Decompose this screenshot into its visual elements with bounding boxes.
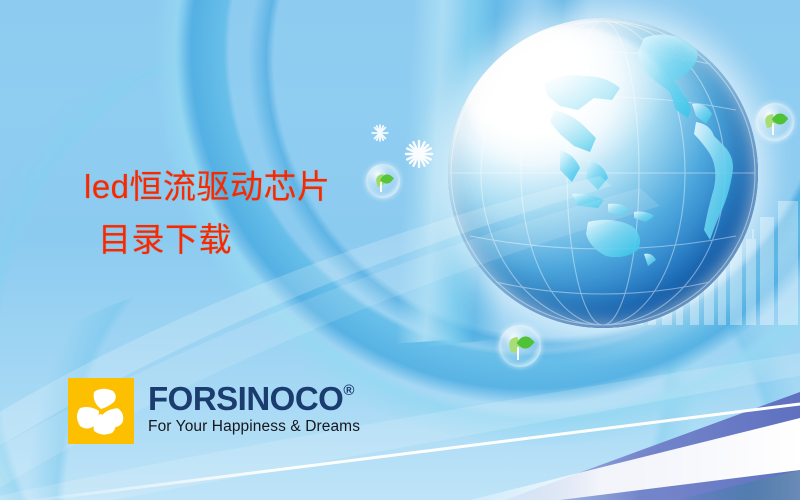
starburst-sparkle-icon-small bbox=[371, 124, 389, 142]
registered-trademark-icon: ® bbox=[343, 383, 354, 398]
page-title: led恒流驱动芯片 目录下载 bbox=[84, 160, 424, 267]
headline-line-2: 目录下载 bbox=[84, 213, 424, 266]
brand-logo[interactable]: FORSINOCO ® For Your Happiness & Dreams bbox=[68, 378, 360, 444]
logo-text-block: FORSINOCO ® For Your Happiness & Dreams bbox=[148, 378, 360, 436]
headline-line-1: led恒流驱动芯片 bbox=[84, 168, 331, 205]
banner-canvas: led恒流驱动芯片 目录下载 FORSINOCO ® For Your Happ… bbox=[0, 0, 800, 500]
logo-wordmark: FORSINOCO ® bbox=[148, 382, 360, 415]
logo-wordmark-text: FORSINOCO bbox=[148, 382, 343, 415]
soap-bubble-icon-right bbox=[756, 103, 794, 141]
four-petal-pinwheel-icon bbox=[68, 378, 134, 444]
soap-bubble-icon-lower bbox=[499, 325, 541, 367]
logo-tagline: For Your Happiness & Dreams bbox=[148, 418, 360, 436]
